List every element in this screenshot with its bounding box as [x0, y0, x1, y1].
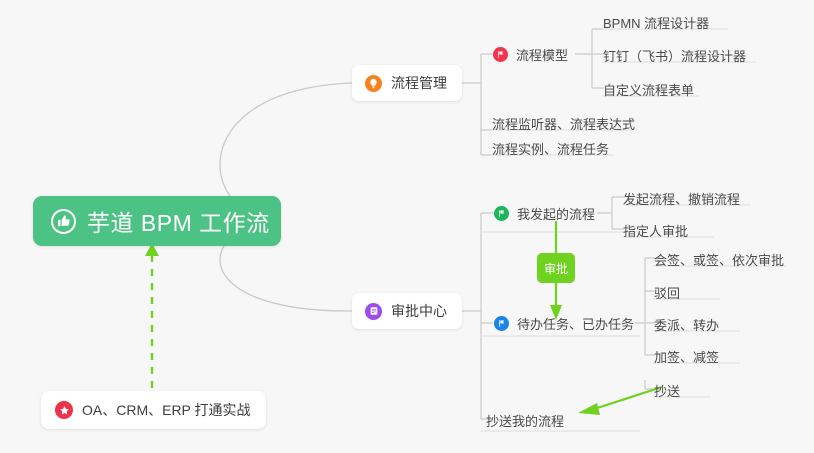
leaf-countersign-orsign-sequential[interactable]: 会签、或签、依次审批 — [654, 250, 784, 274]
flag-icon-blue — [494, 316, 509, 331]
tag-approve[interactable]: 审批 — [537, 253, 575, 283]
root-node[interactable]: 芋道 BPM 工作流 — [33, 196, 281, 246]
leaf-cc-my-processes[interactable]: 抄送我的流程 — [486, 411, 564, 435]
node-label-my-started-processes: 我发起的流程 — [517, 204, 595, 223]
leaf-bpmn-designer[interactable]: BPMN 流程设计器 — [603, 13, 709, 37]
card-label-integration-practice: OA、CRM、ERP 打通实战 — [82, 400, 251, 420]
leaf-process-listener-expression[interactable]: 流程监听器、流程表达式 — [492, 114, 635, 138]
node-process-model[interactable]: 流程模型 — [493, 45, 568, 64]
node-label-process-model: 流程模型 — [516, 45, 568, 64]
leaf-cc[interactable]: 抄送 — [654, 381, 680, 405]
clipboard-icon — [365, 303, 382, 320]
leaf-add-remove-signer[interactable]: 加签、减签 — [654, 347, 719, 371]
lightbulb-icon — [365, 75, 382, 92]
leaf-start-cancel-process[interactable]: 发起流程、撤销流程 — [623, 189, 740, 213]
root-label: 芋道 BPM 工作流 — [87, 204, 270, 238]
leaf-reject[interactable]: 驳回 — [654, 283, 680, 307]
branch-node-process-management[interactable]: 流程管理 — [352, 65, 462, 101]
star-icon — [55, 401, 73, 419]
card-integration-practice[interactable]: OA、CRM、ERP 打通实战 — [41, 391, 266, 429]
leaf-dingtalk-feishu-designer[interactable]: 钉钉（飞书）流程设计器 — [603, 46, 746, 70]
leaf-delegate-transfer[interactable]: 委派、转办 — [654, 315, 719, 339]
node-my-started-processes[interactable]: 我发起的流程 — [494, 204, 595, 223]
leaf-assigned-approver[interactable]: 指定人审批 — [623, 221, 688, 245]
mindmap-canvas: 芋道 BPM 工作流 流程管理 审批中心 — [0, 0, 814, 453]
node-label-todo-done-tasks: 待办任务、已办任务 — [517, 314, 634, 333]
flag-icon-green — [494, 206, 509, 221]
branch-label-process-management: 流程管理 — [391, 73, 447, 93]
branch-node-approval-center[interactable]: 审批中心 — [352, 293, 462, 329]
leaf-process-instance-task[interactable]: 流程实例、流程任务 — [492, 139, 609, 163]
node-todo-done-tasks[interactable]: 待办任务、已办任务 — [494, 314, 634, 333]
flag-icon-red — [493, 47, 508, 62]
thumbs-up-icon — [51, 209, 76, 234]
leaf-custom-process-form[interactable]: 自定义流程表单 — [603, 80, 694, 104]
branch-label-approval-center: 审批中心 — [391, 301, 447, 321]
